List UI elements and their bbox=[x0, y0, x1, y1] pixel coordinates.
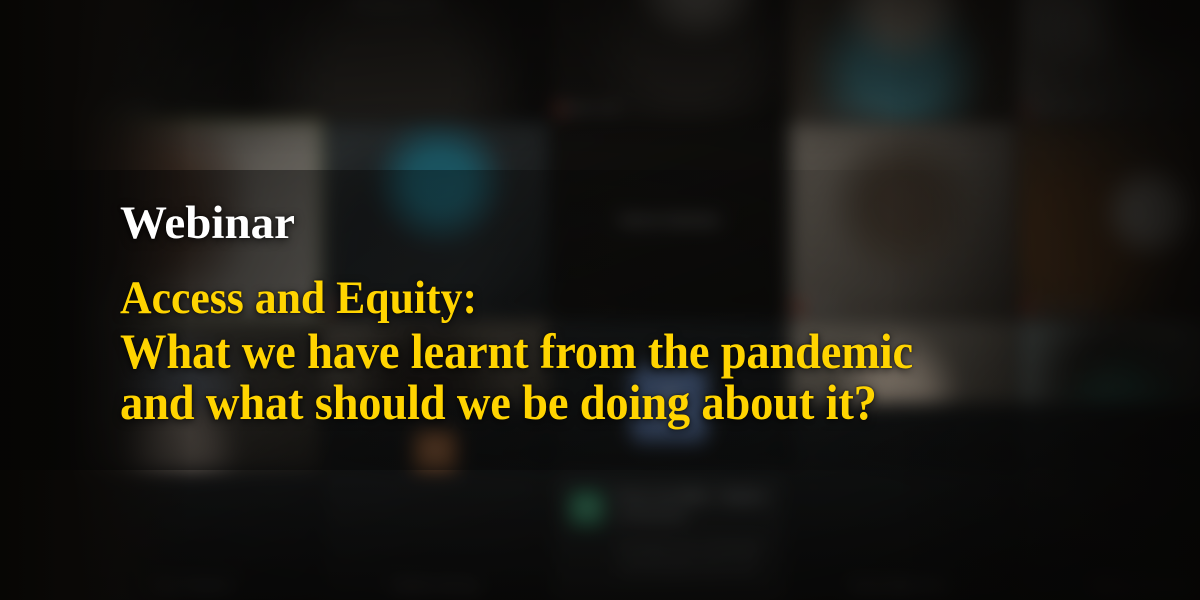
eyebrow-label: Webinar bbox=[120, 200, 295, 247]
headline-line-1: Access and Equity: bbox=[120, 270, 1013, 326]
headline-line-3: and what should we be doing about it? bbox=[120, 377, 1013, 428]
webinar-promo-banner: Prof. Varghese Anastasia Pols... David L… bbox=[0, 0, 1200, 600]
title-overlay: Webinar Access and Equity: What we have … bbox=[0, 0, 1200, 600]
headline-block: Access and Equity: What we have learnt f… bbox=[120, 270, 1080, 428]
headline-line-2: What we have learnt from the pandemic bbox=[120, 326, 1013, 377]
